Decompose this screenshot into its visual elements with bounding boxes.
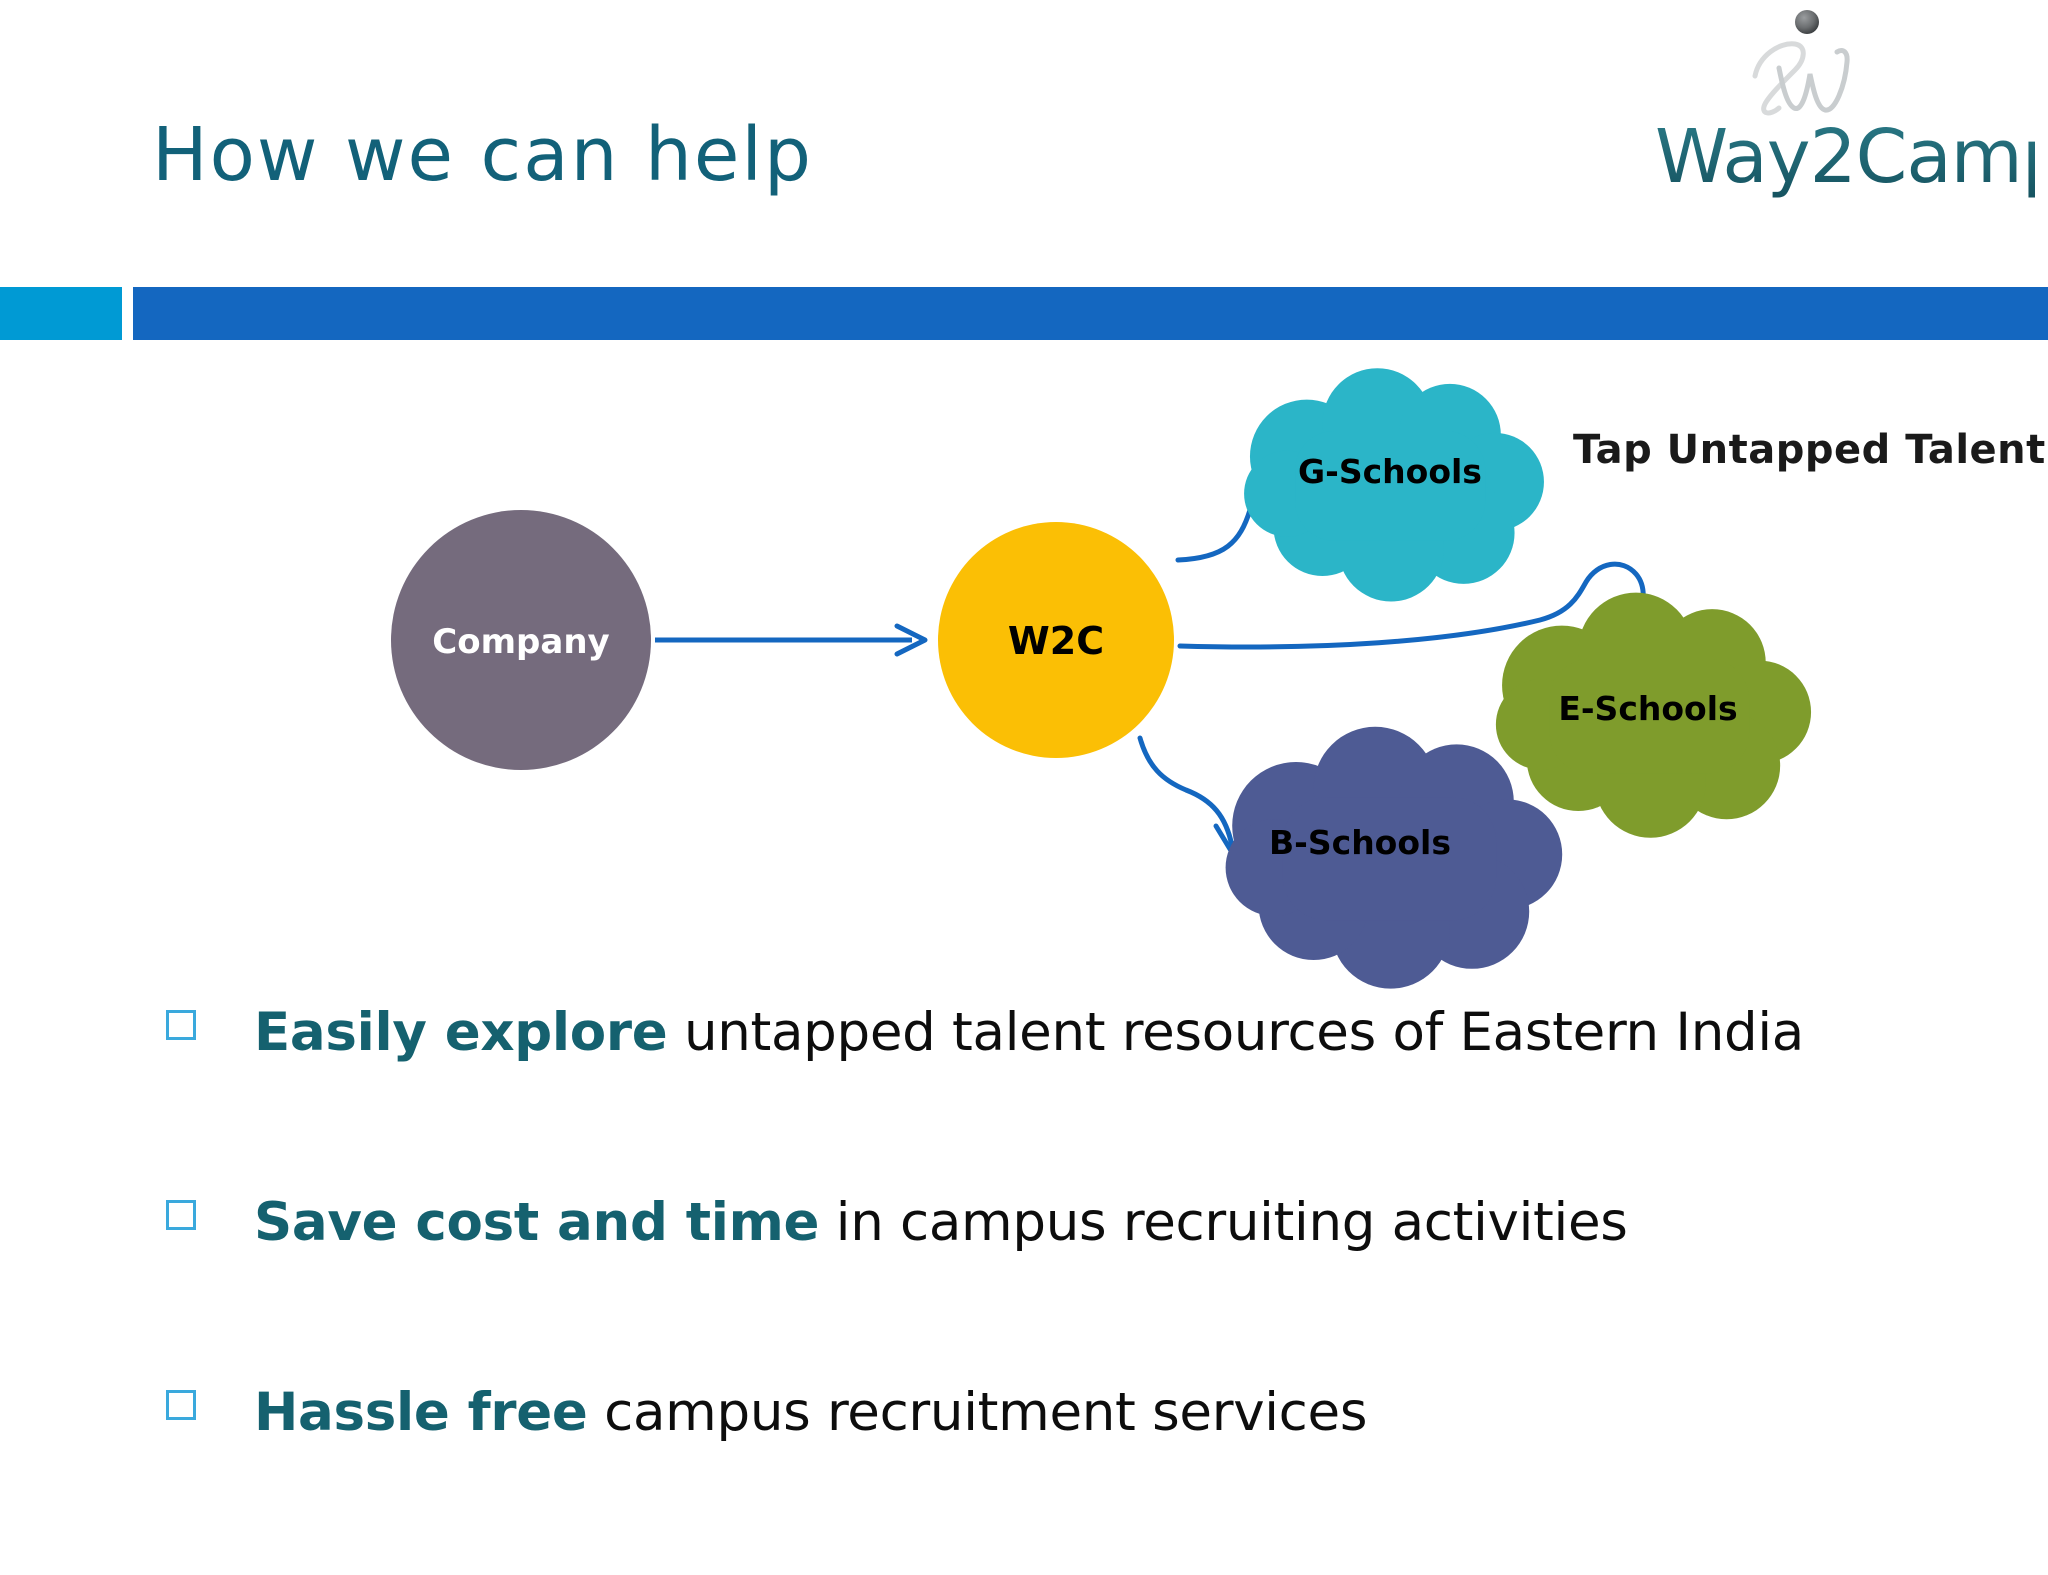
bullet-marker-icon bbox=[166, 1390, 196, 1420]
bullet-emphasis: Easily explore bbox=[254, 1002, 667, 1063]
node-company-label: Company bbox=[432, 622, 609, 662]
bullet-text: Save cost and time in campus recruiting … bbox=[254, 1195, 1628, 1251]
bullet-text: Hassle free campus recruitment services bbox=[254, 1385, 1367, 1441]
list-item: Easily explore untapped talent resources… bbox=[0, 1005, 2048, 1195]
bullet-emphasis: Hassle free bbox=[254, 1382, 588, 1443]
bullet-remainder: untapped talent resources of Eastern Ind… bbox=[667, 1002, 1804, 1063]
divider-bar-main bbox=[133, 287, 2048, 340]
bullet-marker-icon bbox=[166, 1010, 196, 1040]
callout-tap-untapped-talent: Tap Untapped Talent bbox=[1573, 427, 2046, 473]
bullet-marker-icon bbox=[166, 1200, 196, 1230]
bullet-remainder: in campus recruiting activities bbox=[819, 1192, 1627, 1253]
node-e-schools-label: E-Schools bbox=[1558, 689, 1737, 728]
logo-wordmark: Way2Campus bbox=[1655, 114, 2035, 200]
bullet-text: Easily explore untapped talent resources… bbox=[254, 1005, 1804, 1061]
node-w2c-label: W2C bbox=[1008, 619, 1104, 663]
node-g-schools-label: G-Schools bbox=[1298, 452, 1482, 491]
edge-company-to-w2c bbox=[655, 626, 925, 654]
bullet-remainder: campus recruitment services bbox=[588, 1382, 1368, 1443]
bullet-list: Easily explore untapped talent resources… bbox=[0, 1005, 2048, 1575]
brand-logo: Way2Campus bbox=[1655, 4, 2035, 200]
divider-bar-accent bbox=[0, 287, 122, 340]
logo-script-w bbox=[1779, 50, 1847, 110]
page-title: How we can help bbox=[152, 118, 813, 192]
list-item: Save cost and time in campus recruiting … bbox=[0, 1195, 2048, 1385]
logo-dot bbox=[1795, 10, 1819, 34]
bullet-emphasis: Save cost and time bbox=[254, 1192, 819, 1253]
list-item: Hassle free campus recruitment services bbox=[0, 1385, 2048, 1575]
node-b-schools-label: B-Schools bbox=[1269, 823, 1451, 862]
